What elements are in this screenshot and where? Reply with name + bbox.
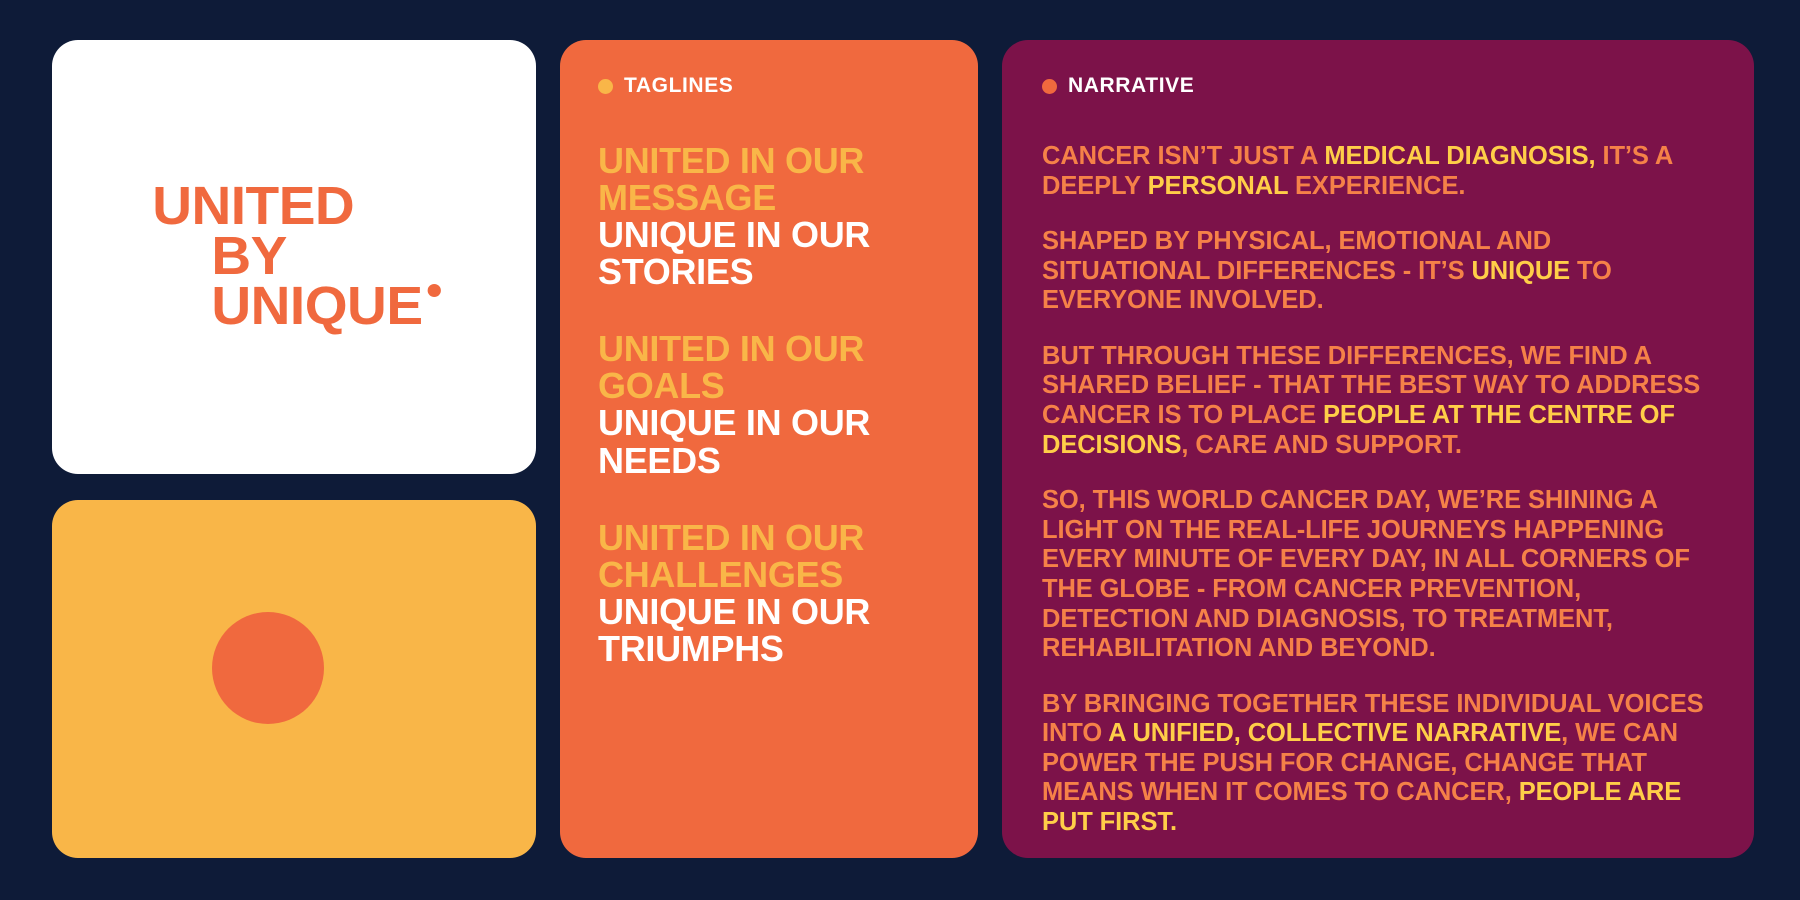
- taglines-header: TAGLINES: [598, 74, 944, 98]
- logo-line-2: BY: [153, 232, 442, 282]
- tagline-unique-line: UNIQUE IN OUR TRIUMPHS: [598, 593, 944, 667]
- mark-card: [52, 500, 536, 858]
- narrative-header: NARRATIVE: [1042, 74, 1718, 98]
- tagline-unique-line: UNIQUE IN OUR STORIES: [598, 216, 944, 290]
- bullet-dot-icon: [598, 79, 613, 94]
- narrative-text: CANCER ISN’T JUST A: [1042, 142, 1324, 170]
- logo-line-3: UNIQUE: [153, 282, 442, 332]
- narrative-text: , CARE AND SUPPORT.: [1181, 431, 1462, 459]
- tagline-united-line: UNITED IN OUR MESSAGE: [598, 142, 944, 216]
- logo-line-3-text: UNIQUE: [212, 276, 423, 336]
- tagline-item: UNITED IN OUR CHALLENGES UNIQUE IN OUR T…: [598, 519, 944, 667]
- narrative-panel: NARRATIVE CANCER ISN’T JUST A MEDICAL DI…: [1002, 40, 1754, 858]
- narrative-highlight: UNIQUE: [1471, 257, 1570, 285]
- logo-card: UNITED BY UNIQUE: [52, 40, 536, 474]
- narrative-header-label: NARRATIVE: [1068, 74, 1194, 98]
- narrative-highlight: PERSONAL: [1148, 172, 1288, 200]
- taglines-header-label: TAGLINES: [624, 74, 733, 98]
- tagline-item: UNITED IN OUR GOALS UNIQUE IN OUR NEEDS: [598, 330, 944, 478]
- taglines-panel: TAGLINES UNITED IN OUR MESSAGE UNIQUE IN…: [560, 40, 978, 858]
- narrative-paragraph: SO, THIS WORLD CANCER DAY, WE’RE SHINING…: [1042, 486, 1718, 663]
- bullet-dot-icon: [1042, 79, 1057, 94]
- logo-line-1: UNITED: [153, 182, 442, 232]
- tagline-united-line: UNITED IN OUR GOALS: [598, 330, 944, 404]
- narrative-paragraph: BUT THROUGH THESE DIFFERENCES, WE FIND A…: [1042, 342, 1718, 460]
- tagline-unique-line: UNIQUE IN OUR NEEDS: [598, 404, 944, 478]
- narrative-paragraph: CANCER ISN’T JUST A MEDICAL DIAGNOSIS, I…: [1042, 142, 1718, 201]
- brand-board: UNITED BY UNIQUE TAGLINES UNITED IN OUR …: [0, 0, 1800, 900]
- brand-column: UNITED BY UNIQUE: [52, 40, 536, 858]
- logo-dot-icon: [428, 284, 441, 297]
- brand-logo-lockup: UNITED BY UNIQUE: [147, 182, 442, 331]
- narrative-body: CANCER ISN’T JUST A MEDICAL DIAGNOSIS, I…: [1042, 142, 1718, 838]
- circle-mark-icon: [212, 612, 324, 724]
- narrative-text: SO, THIS WORLD CANCER DAY, WE’RE SHINING…: [1042, 486, 1690, 662]
- tagline-item: UNITED IN OUR MESSAGE UNIQUE IN OUR STOR…: [598, 142, 944, 290]
- narrative-highlight: MEDICAL DIAGNOSIS,: [1324, 142, 1595, 170]
- narrative-text: EXPERIENCE.: [1288, 172, 1465, 200]
- narrative-highlight: A UNIFIED, COLLECTIVE NARRATIVE: [1108, 719, 1561, 747]
- narrative-paragraph: BY BRINGING TOGETHER THESE INDIVIDUAL VO…: [1042, 690, 1718, 838]
- narrative-paragraph: SHAPED BY PHYSICAL, EMOTIONAL AND SITUAT…: [1042, 227, 1718, 316]
- tagline-united-line: UNITED IN OUR CHALLENGES: [598, 519, 944, 593]
